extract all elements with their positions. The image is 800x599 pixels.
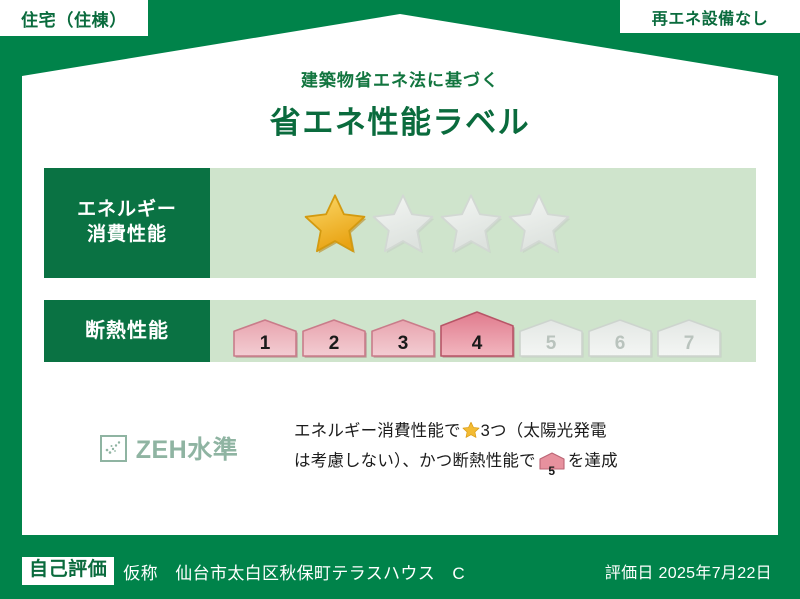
dwelling-type-tag: 住宅（住棟）: [0, 0, 148, 36]
dwelling-type-label: 住宅（住棟）: [21, 6, 127, 31]
title-subtitle: 建築物省エネ法に基づく: [0, 66, 800, 91]
zeh-section: ZEH水準 エネルギー消費性能で 3つ（太陽光発電 は考慮しない）、かつ断熱性能…: [44, 418, 756, 478]
insulation-performance-label: 断熱性能: [44, 300, 210, 362]
insulation-grade-number: 6: [587, 334, 653, 353]
energy-label-line2: 消費性能: [87, 223, 167, 248]
energy-label-line1: エネルギー: [77, 198, 177, 223]
zeh-desc-part3: は考慮しない）、かつ断熱性能で: [294, 452, 536, 470]
renewable-equipment-label: 再エネ設備なし: [652, 5, 768, 29]
inline-grade-number: 5: [539, 465, 565, 477]
evaluation-date: 評価日 2025年7月22日: [605, 559, 772, 583]
zeh-desc-part2: 3つ（太陽光発電: [481, 422, 607, 440]
insulation-grade-1: 1: [232, 318, 298, 358]
evaluation-type-badge: 自己評価: [22, 557, 114, 585]
title-block: 建築物省エネ法に基づく 省エネ性能ラベル: [0, 66, 800, 142]
zeh-desc-part1: エネルギー消費性能で: [294, 422, 461, 440]
energy-performance-label: エネルギー 消費性能: [44, 168, 210, 278]
star-filled-icon: [304, 192, 366, 254]
zeh-mark: ZEH水準: [44, 430, 294, 466]
star-empty-icon: [440, 192, 502, 254]
star-icon: [462, 421, 480, 448]
renewable-equipment-tag: 再エネ設備なし: [620, 0, 800, 33]
zeh-description: エネルギー消費性能で 3つ（太陽光発電 は考慮しない）、かつ断熱性能で 5 を達…: [294, 418, 756, 478]
zeh-mark-label: ZEH水準: [136, 430, 239, 466]
insulation-label-text: 断熱性能: [85, 318, 169, 344]
star-rating: [304, 192, 570, 254]
page-title: 省エネ性能ラベル: [0, 97, 800, 142]
zeh-check-icon: [100, 435, 127, 462]
insulation-rating-value: 1234567: [210, 300, 756, 362]
insulation-grade-7: 7: [656, 318, 722, 358]
insulation-grade-number: 2: [301, 334, 367, 353]
insulation-grade-5: 5: [518, 318, 584, 358]
zeh-desc-part4: を達成: [568, 452, 618, 470]
energy-label-root: 住宅（住棟） 再エネ設備なし 建築物省エネ法に基づく 省エネ性能ラベル エネルギ…: [0, 0, 800, 599]
insulation-grade-number: 5: [518, 334, 584, 353]
insulation-grade-6: 6: [587, 318, 653, 358]
energy-performance-row: エネルギー 消費性能: [44, 168, 756, 278]
energy-rating-value: [210, 168, 756, 278]
insulation-grade-scale: 1234567: [232, 310, 722, 358]
insulation-grade-3: 3: [370, 318, 436, 358]
footer-bar: 自己評価 仮称 仙台市太白区秋保町テラスハウス C 評価日 2025年7月22日: [0, 543, 800, 599]
inline-grade-badge: 5: [539, 452, 565, 479]
insulation-grade-number: 1: [232, 334, 298, 353]
star-empty-icon: [508, 192, 570, 254]
insulation-grade-number: 7: [656, 334, 722, 353]
insulation-grade-number: 4: [439, 334, 515, 353]
insulation-grade-number: 3: [370, 334, 436, 353]
insulation-grade-4: 4: [439, 310, 515, 358]
insulation-grade-2: 2: [301, 318, 367, 358]
star-empty-icon: [372, 192, 434, 254]
insulation-performance-row: 断熱性能 1234567: [44, 300, 756, 362]
building-name: 仮称 仙台市太白区秋保町テラスハウス C: [123, 559, 465, 584]
